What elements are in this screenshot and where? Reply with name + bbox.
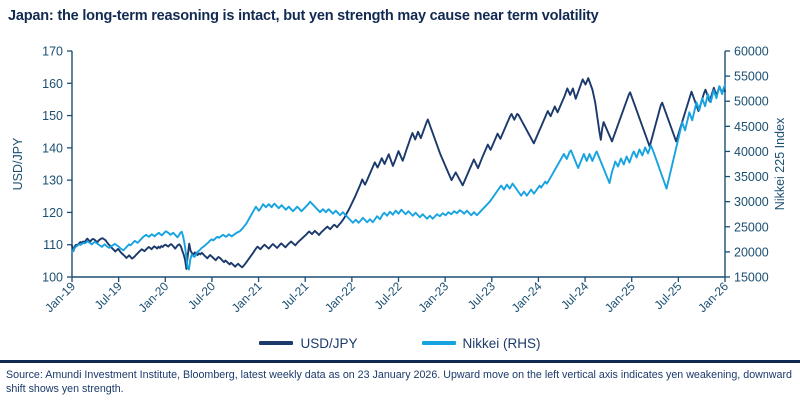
svg-text:130: 130	[42, 174, 63, 188]
svg-text:160: 160	[42, 77, 63, 91]
series-line-nikkei-rhs	[72, 85, 725, 269]
chart-area: 100110120130140150160170 150002000025000…	[0, 36, 800, 356]
svg-text:150: 150	[42, 109, 63, 123]
series-line-usd-jpy	[72, 78, 725, 269]
svg-text:Jan-25: Jan-25	[602, 279, 638, 315]
svg-text:Jul-24: Jul-24	[558, 279, 591, 312]
svg-text:40000: 40000	[734, 145, 769, 159]
svg-text:100: 100	[42, 271, 63, 285]
svg-text:30000: 30000	[734, 195, 769, 209]
x-axis-ticks: Jan-19Jul-19Jan-20Jul-20Jan-21Jul-21Jan-…	[42, 277, 731, 315]
svg-text:Jan-26: Jan-26	[695, 279, 731, 315]
svg-text:Jan-22: Jan-22	[322, 279, 358, 315]
svg-text:15000: 15000	[734, 271, 769, 285]
svg-text:Jul-25: Jul-25	[651, 279, 684, 312]
svg-text:35000: 35000	[734, 170, 769, 184]
legend-swatch	[259, 341, 293, 345]
legend-item-usd-jpy[interactable]: USD/JPY	[259, 336, 357, 351]
left-axis-title: USD/JPY	[11, 137, 25, 190]
source-note: Source: Amundi Investment Institute, Blo…	[6, 368, 796, 397]
svg-text:170: 170	[42, 45, 63, 59]
footer-divider	[0, 360, 800, 363]
svg-text:60000: 60000	[734, 45, 769, 59]
right-axis-ticks: 1500020000250003000035000400004500050000…	[725, 45, 769, 285]
svg-text:45000: 45000	[734, 120, 769, 134]
svg-text:Jul-23: Jul-23	[465, 279, 498, 312]
svg-text:25000: 25000	[734, 220, 769, 234]
svg-text:140: 140	[42, 141, 63, 155]
series-group	[72, 78, 725, 269]
svg-text:Jan-21: Jan-21	[229, 279, 265, 315]
svg-text:Jul-22: Jul-22	[372, 279, 405, 312]
chart-legend: USD/JPYNikkei (RHS)	[0, 330, 800, 356]
svg-text:110: 110	[43, 238, 63, 252]
svg-text:Jan-24: Jan-24	[509, 279, 545, 315]
legend-label: USD/JPY	[300, 336, 357, 351]
svg-text:Jul-19: Jul-19	[92, 279, 125, 312]
svg-text:50000: 50000	[734, 95, 769, 109]
legend-swatch	[422, 341, 456, 345]
right-axis-title: Nikkei 225 Index	[773, 117, 787, 210]
legend-label: Nikkei (RHS)	[463, 336, 541, 351]
svg-text:Jul-21: Jul-21	[278, 279, 311, 312]
left-axis-ticks: 100110120130140150160170	[42, 45, 72, 285]
svg-text:Jan-23: Jan-23	[415, 279, 451, 315]
page-title: Japan: the long-term reasoning is intact…	[8, 8, 792, 24]
svg-text:20000: 20000	[734, 245, 769, 259]
legend-item-nikkei-rhs[interactable]: Nikkei (RHS)	[422, 336, 541, 351]
svg-text:120: 120	[42, 206, 63, 220]
svg-text:Jan-20: Jan-20	[136, 279, 172, 315]
line-chart: 100110120130140150160170 150002000025000…	[0, 36, 800, 356]
svg-text:55000: 55000	[734, 70, 769, 84]
svg-text:Jul-20: Jul-20	[185, 279, 218, 312]
